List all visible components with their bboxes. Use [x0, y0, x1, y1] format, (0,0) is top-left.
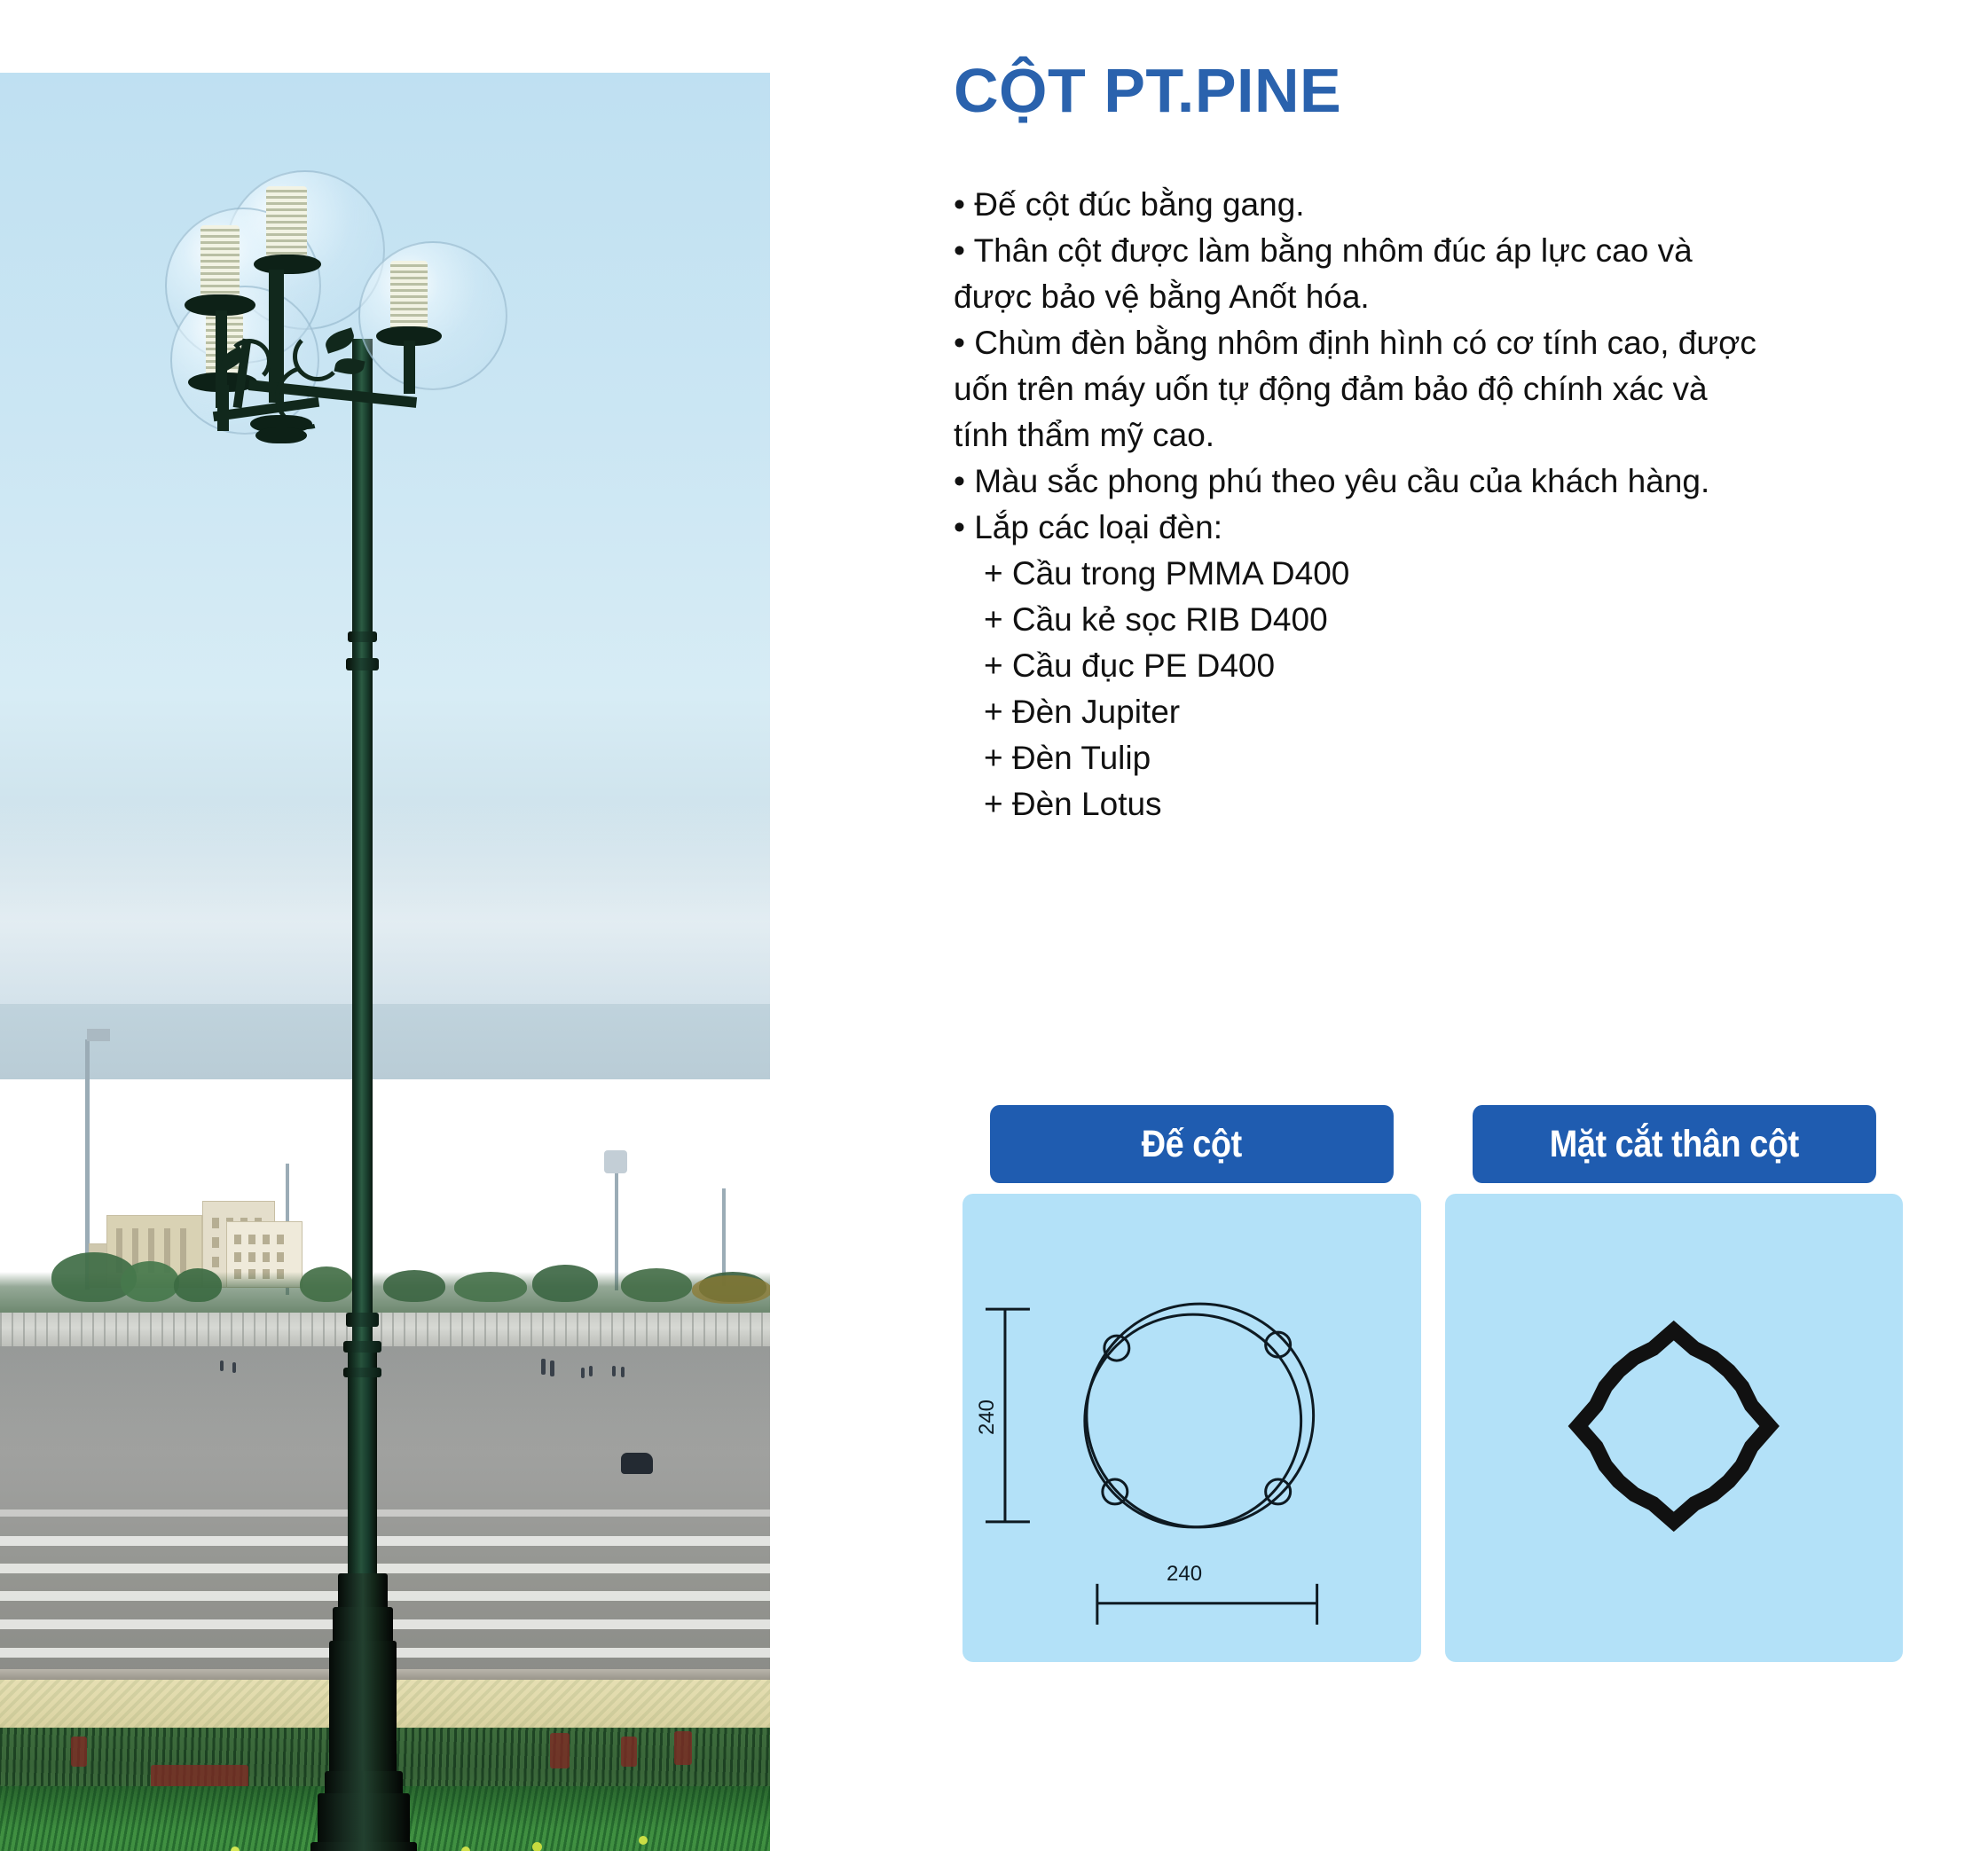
pedestrian: [612, 1366, 616, 1376]
tree: [532, 1265, 598, 1302]
cfl-bulb: [266, 186, 307, 261]
feature-line: tính thẩm mỹ cao.: [954, 412, 1928, 459]
tree: [174, 1268, 222, 1302]
dimension-label-vertical: 240: [975, 1385, 1000, 1449]
panel-base-plate-body: 240 240: [963, 1194, 1421, 1662]
pedestrian: [541, 1359, 546, 1375]
feature-line: • Lắp các loại đèn:: [954, 505, 1928, 551]
lamp-option: + Đèn Jupiter: [954, 689, 1928, 735]
distant-mast-icon-3: [615, 1159, 618, 1290]
pedestrian: [581, 1368, 585, 1378]
lamp-globe: [358, 241, 507, 390]
pole-ring: [348, 631, 377, 642]
pole-ring: [346, 658, 379, 670]
feature-line: được bảo vệ bằng Anốt hóa.: [954, 274, 1928, 320]
pedestrian: [621, 1367, 625, 1377]
flower: [532, 1842, 542, 1851]
pedestrian: [550, 1360, 554, 1376]
panel-cross-section-header: Mặt cắt thân cột: [1472, 1105, 1875, 1183]
cfl-bulb: [390, 261, 428, 330]
lamp-collar: [254, 255, 321, 274]
crosswalk-stripe: [0, 1536, 770, 1546]
pole-base-collar: [333, 1607, 393, 1643]
red-foliage: [674, 1731, 692, 1765]
lamp-option: + Cầu trong PMMA D400: [954, 551, 1928, 597]
red-foliage: [550, 1733, 570, 1768]
pole-base-shaft: [329, 1641, 397, 1774]
feature-list: • Đế cột đúc bằng gang. • Thân cột được …: [954, 182, 1928, 827]
feature-line: • Chùm đèn bằng nhôm định hình có cơ tín…: [954, 320, 1928, 366]
technical-drawings: Đế cột 240 240: [963, 1105, 1903, 1662]
cfl-bulb: [200, 225, 240, 298]
lamp-option: + Cầu kẻ sọc RIB D400: [954, 597, 1928, 643]
panel-cross-section: Mặt cắt thân cột: [1445, 1105, 1904, 1662]
crosswalk-stripe: [0, 1564, 770, 1573]
distant-mast-head-icon: [87, 1029, 110, 1041]
red-foliage: [71, 1737, 87, 1767]
panel-base-plate: Đế cột 240 240: [963, 1105, 1421, 1662]
pole-ring: [343, 1341, 381, 1353]
feature-line: • Đế cột đúc bằng gang.: [954, 182, 1928, 228]
page-title: CỘT PT.PINE: [954, 55, 1341, 126]
tree: [121, 1261, 179, 1302]
panel-base-plate-header: Đế cột: [990, 1105, 1394, 1183]
pole-base-flare: [318, 1793, 410, 1848]
flower: [231, 1847, 240, 1851]
product-photo: [0, 73, 770, 1851]
pole-base-ring: [325, 1771, 403, 1796]
flower: [461, 1847, 470, 1851]
parked-car: [621, 1453, 653, 1474]
shrub: [692, 1275, 770, 1304]
pedestrian: [232, 1362, 236, 1373]
lamp-stem: [217, 385, 229, 431]
flower: [639, 1836, 648, 1845]
feature-line: • Màu sắc phong phú theo yêu cầu của khá…: [954, 459, 1928, 505]
fluted-12-point-star-section-icon: [1445, 1194, 1904, 1662]
lamp-option: + Cầu đục PE D400: [954, 643, 1928, 689]
crosswalk-stripe: [0, 1509, 770, 1517]
pole-ring: [343, 1368, 381, 1377]
pedestrian: [589, 1366, 593, 1376]
pole-ring: [346, 1313, 379, 1327]
tree: [300, 1266, 353, 1302]
feature-line: uốn trên máy uốn tự động đảm bảo độ chín…: [954, 366, 1928, 412]
red-foliage: [621, 1737, 637, 1767]
plaza-wall: [0, 1313, 770, 1350]
lamp-option: + Đèn Tulip: [954, 735, 1928, 781]
tree: [383, 1270, 445, 1302]
tree: [621, 1268, 692, 1302]
red-foliage: [151, 1765, 248, 1788]
lamp-stem: [404, 341, 415, 394]
pedestrian: [220, 1360, 224, 1371]
plaza-shadow: [0, 1346, 770, 1453]
feature-line: • Thân cột được làm bằng nhôm đúc áp lực…: [954, 228, 1928, 274]
pole-base-foot: [310, 1842, 417, 1851]
tree: [454, 1272, 527, 1302]
panel-cross-section-body: [1445, 1194, 1904, 1662]
lamp-option: + Đèn Lotus: [954, 781, 1928, 827]
base-plate-circle-diagram: [963, 1194, 1421, 1662]
dimension-label-horizontal: 240: [1167, 1562, 1202, 1587]
sky-haze: [0, 800, 770, 1004]
lamp-hub-collar: [255, 427, 307, 443]
pole-shaft: [352, 339, 373, 1341]
pole-base-collar: [338, 1573, 388, 1611]
control-tower-icon: [604, 1150, 627, 1173]
